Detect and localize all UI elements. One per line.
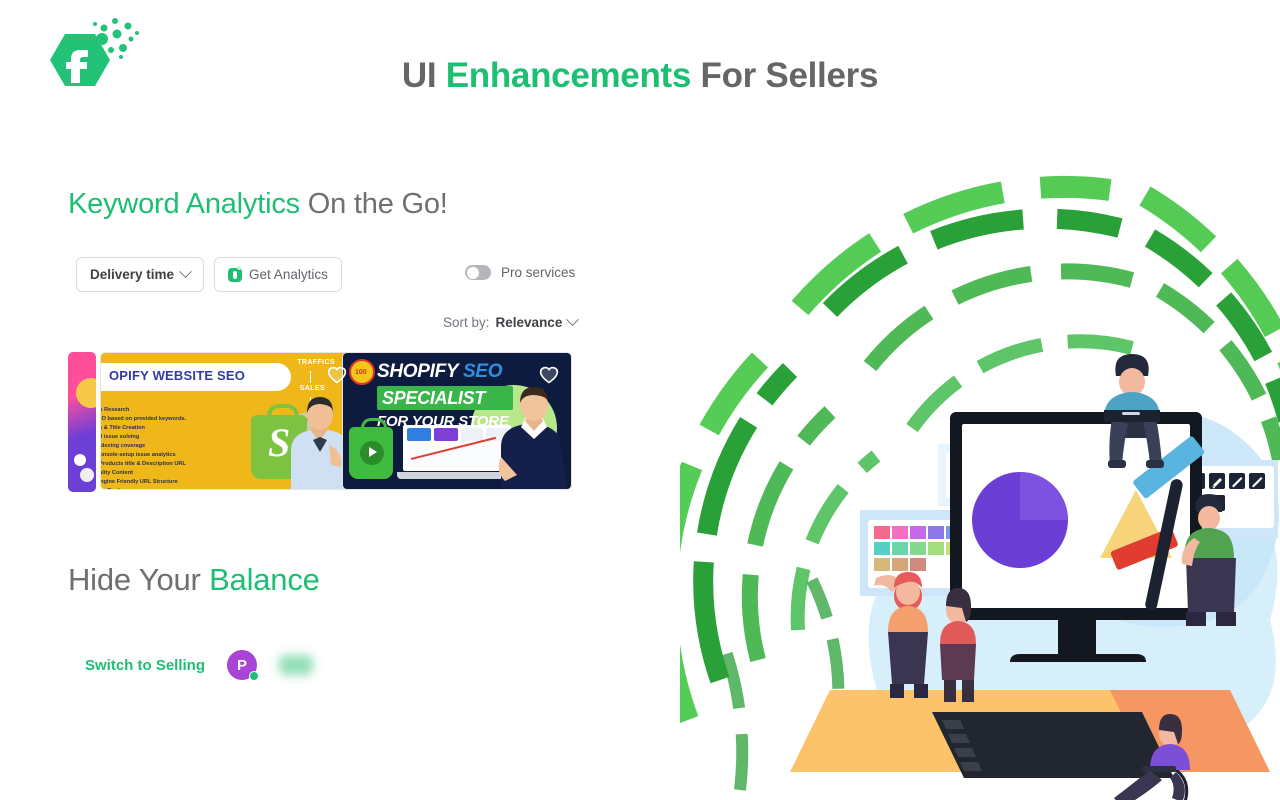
- hidden-balance-chip[interactable]: [279, 655, 313, 675]
- section-title-keyword-analytics: Keyword Analytics On the Go!: [68, 188, 448, 221]
- play-icon: [360, 441, 384, 465]
- sort-by-label: Sort by:: [443, 315, 490, 330]
- filter-bar: Delivery time Get Analytics: [76, 257, 342, 292]
- gig-thumbnail: SHOPIFY SEO SPECIALIST FOR YOUR STORE: [343, 353, 571, 489]
- get-analytics-label: Get Analytics: [249, 267, 328, 282]
- gig-card-shopify-website-seo[interactable]: OPIFY WEBSITE SEO dit ywords Research ge…: [100, 352, 360, 490]
- shopify-bag-icon: [349, 427, 393, 479]
- gig-thumb-line2: SPECIALIST: [382, 388, 485, 409]
- section-title-hide-balance: Hide Your Balance: [68, 562, 320, 598]
- gig-thumb-line1: SHOPIFY: [377, 361, 463, 382]
- balance-bar: Switch to Selling P: [85, 650, 313, 680]
- gig-thumb-title: OPIFY WEBSITE SEO: [109, 368, 245, 383]
- section-title-accent: Balance: [209, 562, 320, 597]
- page-root: UI Enhancements For Sellers Keyword Anal…: [0, 0, 1280, 800]
- favorite-heart-icon[interactable]: [327, 365, 347, 385]
- section-title-plain: On the Go!: [300, 188, 448, 220]
- chevron-down-icon: [566, 313, 579, 326]
- analytics-badge-icon: [228, 268, 242, 282]
- gig-card-list: OPIFY WEBSITE SEO dit ywords Research ge…: [68, 352, 588, 492]
- gig-card-shopify-seo-specialist[interactable]: SHOPIFY SEO SPECIALIST FOR YOUR STORE: [342, 352, 572, 490]
- sort-by-value: Relevance: [496, 315, 563, 330]
- gig-thumbnail: OPIFY WEBSITE SEO dit ywords Research ge…: [101, 353, 359, 489]
- hero-illustration: [680, 160, 1280, 800]
- top-rated-badge-icon: [349, 359, 375, 385]
- favorite-heart-icon[interactable]: [539, 365, 559, 385]
- section-title-accent: Keyword Analytics: [68, 188, 300, 220]
- page-title-accent: Enhancements: [446, 56, 691, 95]
- chevron-down-icon: [179, 265, 192, 278]
- gig-thumbnail-partial: [68, 352, 96, 492]
- page-title-prefix: UI: [402, 56, 446, 95]
- delivery-time-dropdown[interactable]: Delivery time: [76, 257, 204, 292]
- gig-thumb-line1-accent: SEO: [463, 361, 502, 382]
- page-title-suffix: For Sellers: [691, 56, 878, 95]
- gig-card-partial[interactable]: [68, 352, 96, 492]
- online-status-dot: [249, 671, 259, 681]
- switch-to-selling-link[interactable]: Switch to Selling: [85, 657, 205, 674]
- get-analytics-button[interactable]: Get Analytics: [214, 257, 342, 292]
- gig-thumb-sales-label: SALES: [300, 385, 325, 392]
- section-title-plain: Hide Your: [68, 562, 209, 597]
- sort-by-control[interactable]: Sort by: Relevance: [443, 315, 577, 330]
- pro-services-toggle[interactable]: [465, 265, 491, 280]
- toggle-knob: [467, 267, 479, 279]
- person-illustration: [495, 385, 571, 489]
- avatar[interactable]: P: [227, 650, 257, 680]
- pro-services-label: Pro services: [501, 265, 575, 280]
- delivery-time-label: Delivery time: [90, 267, 174, 282]
- page-title: UI Enhancements For Sellers: [0, 56, 1280, 96]
- avatar-initial: P: [237, 657, 247, 674]
- gig-thumb-bullets: dit ywords Research ges SEO based on pro…: [101, 397, 273, 489]
- pro-services-toggle-wrap: Pro services: [465, 265, 575, 280]
